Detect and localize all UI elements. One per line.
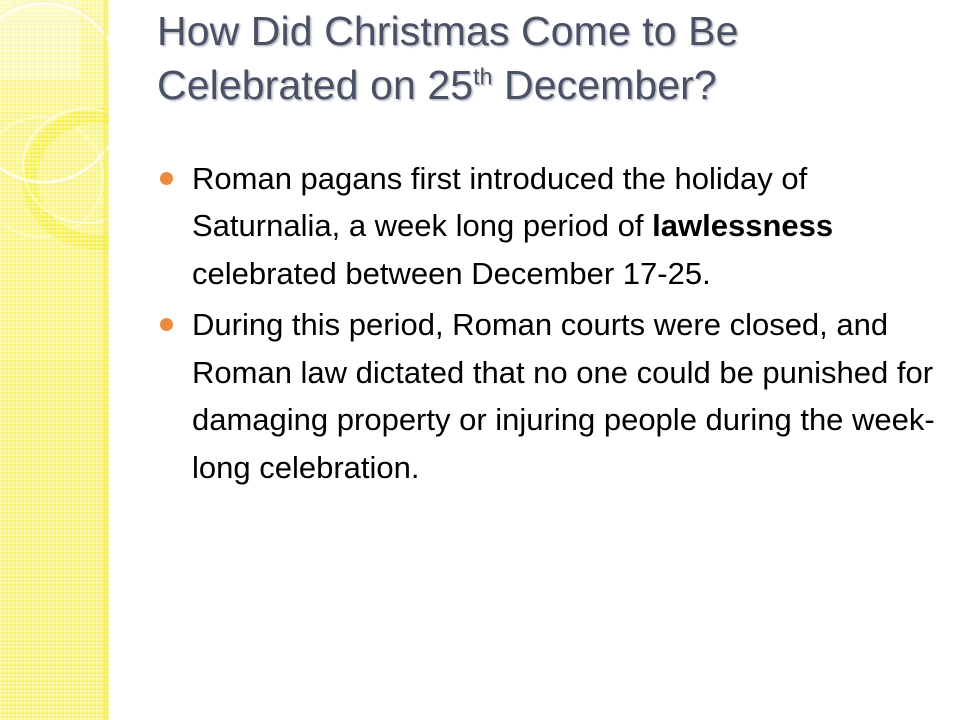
list-item: Roman pagans first introduced the holida… <box>160 155 950 297</box>
bullet-2-segment-1: During this period, Roman courts were cl… <box>192 307 935 484</box>
bullet-1-segment-3: celebrated between December 17-25. <box>192 256 711 291</box>
list-item: During this period, Roman courts were cl… <box>160 301 950 491</box>
slide-title-line-2-suffix: December? <box>493 62 717 108</box>
ordinal-suffix: th <box>473 63 492 89</box>
list-item-text: Roman pagans first introduced the holida… <box>192 155 950 297</box>
sidebar-texture <box>0 0 109 720</box>
decorative-sidebar-band <box>0 0 109 720</box>
slide-title-line-2-prefix: Celebrated on 25 <box>157 62 473 108</box>
round-bullet-icon <box>160 318 173 331</box>
sidebar-right-edge <box>104 0 109 720</box>
slide-title-line-1: How Did Christmas Come to Be <box>157 8 739 54</box>
slide-title: How Did Christmas Come to Be Celebrated … <box>157 4 947 112</box>
presentation-slide: How Did Christmas Come to Be Celebrated … <box>0 0 960 720</box>
round-bullet-icon <box>160 172 173 185</box>
list-item-text: During this period, Roman courts were cl… <box>192 301 950 491</box>
bullet-1-segment-2-bold: lawlessness <box>652 208 833 243</box>
slide-body-list: Roman pagans first introduced the holida… <box>160 155 950 495</box>
